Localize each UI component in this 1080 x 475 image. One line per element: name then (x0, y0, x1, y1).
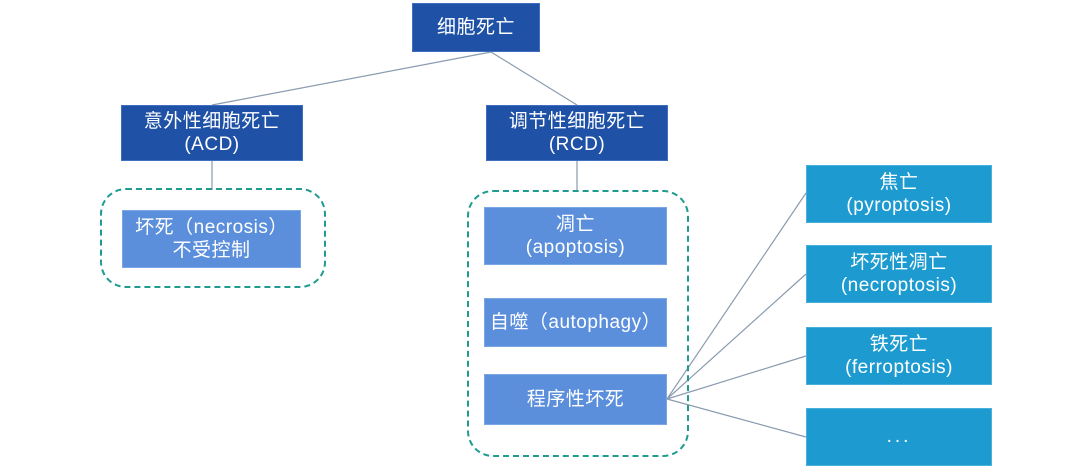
node-more-label: ... (887, 425, 912, 448)
node-rcd-label: 调节性细胞死亡 (RCD) (509, 110, 646, 156)
node-pyroptosis-label: 焦亡 (pyroptosis) (846, 171, 951, 217)
node-autophagy[interactable]: 自噬（autophagy） (484, 298, 667, 347)
node-pyroptosis[interactable]: 焦亡 (pyroptosis) (806, 165, 992, 223)
node-rcd[interactable]: 调节性细胞死亡 (RCD) (486, 105, 668, 161)
node-more[interactable]: ... (806, 408, 992, 466)
connector-title-to-acd (212, 52, 491, 105)
node-autophagy-label: 自噬（autophagy） (490, 311, 661, 334)
node-necroptosis[interactable]: 坏死性凋亡 (necroptosis) (806, 245, 992, 303)
node-necroptosis-label: 坏死性凋亡 (necroptosis) (841, 251, 957, 297)
node-necrosis-label: 坏死（necrosis） 不受控制 (135, 216, 288, 262)
node-ferroptosis[interactable]: 铁死亡 (ferroptosis) (806, 327, 992, 385)
node-necrosis[interactable]: 坏死（necrosis） 不受控制 (122, 210, 301, 268)
node-acd[interactable]: 意外性细胞死亡 (ACD) (121, 105, 303, 161)
node-programmed-necrosis-label: 程序性坏死 (527, 388, 625, 411)
node-apoptosis-label: 凋亡 (apoptosis) (526, 213, 626, 259)
node-apoptosis[interactable]: 凋亡 (apoptosis) (484, 207, 667, 265)
diagram-canvas: 细胞死亡 意外性细胞死亡 (ACD) 调节性细胞死亡 (RCD) 坏死（necr… (0, 0, 1080, 475)
node-cell-death[interactable]: 细胞死亡 (412, 3, 540, 52)
node-cell-death-label: 细胞死亡 (437, 16, 515, 39)
node-programmed-necrosis[interactable]: 程序性坏死 (484, 374, 667, 425)
node-acd-label: 意外性细胞死亡 (ACD) (144, 110, 281, 156)
node-ferroptosis-label: 铁死亡 (ferroptosis) (845, 333, 953, 379)
connector-title-to-rcd (491, 52, 577, 105)
